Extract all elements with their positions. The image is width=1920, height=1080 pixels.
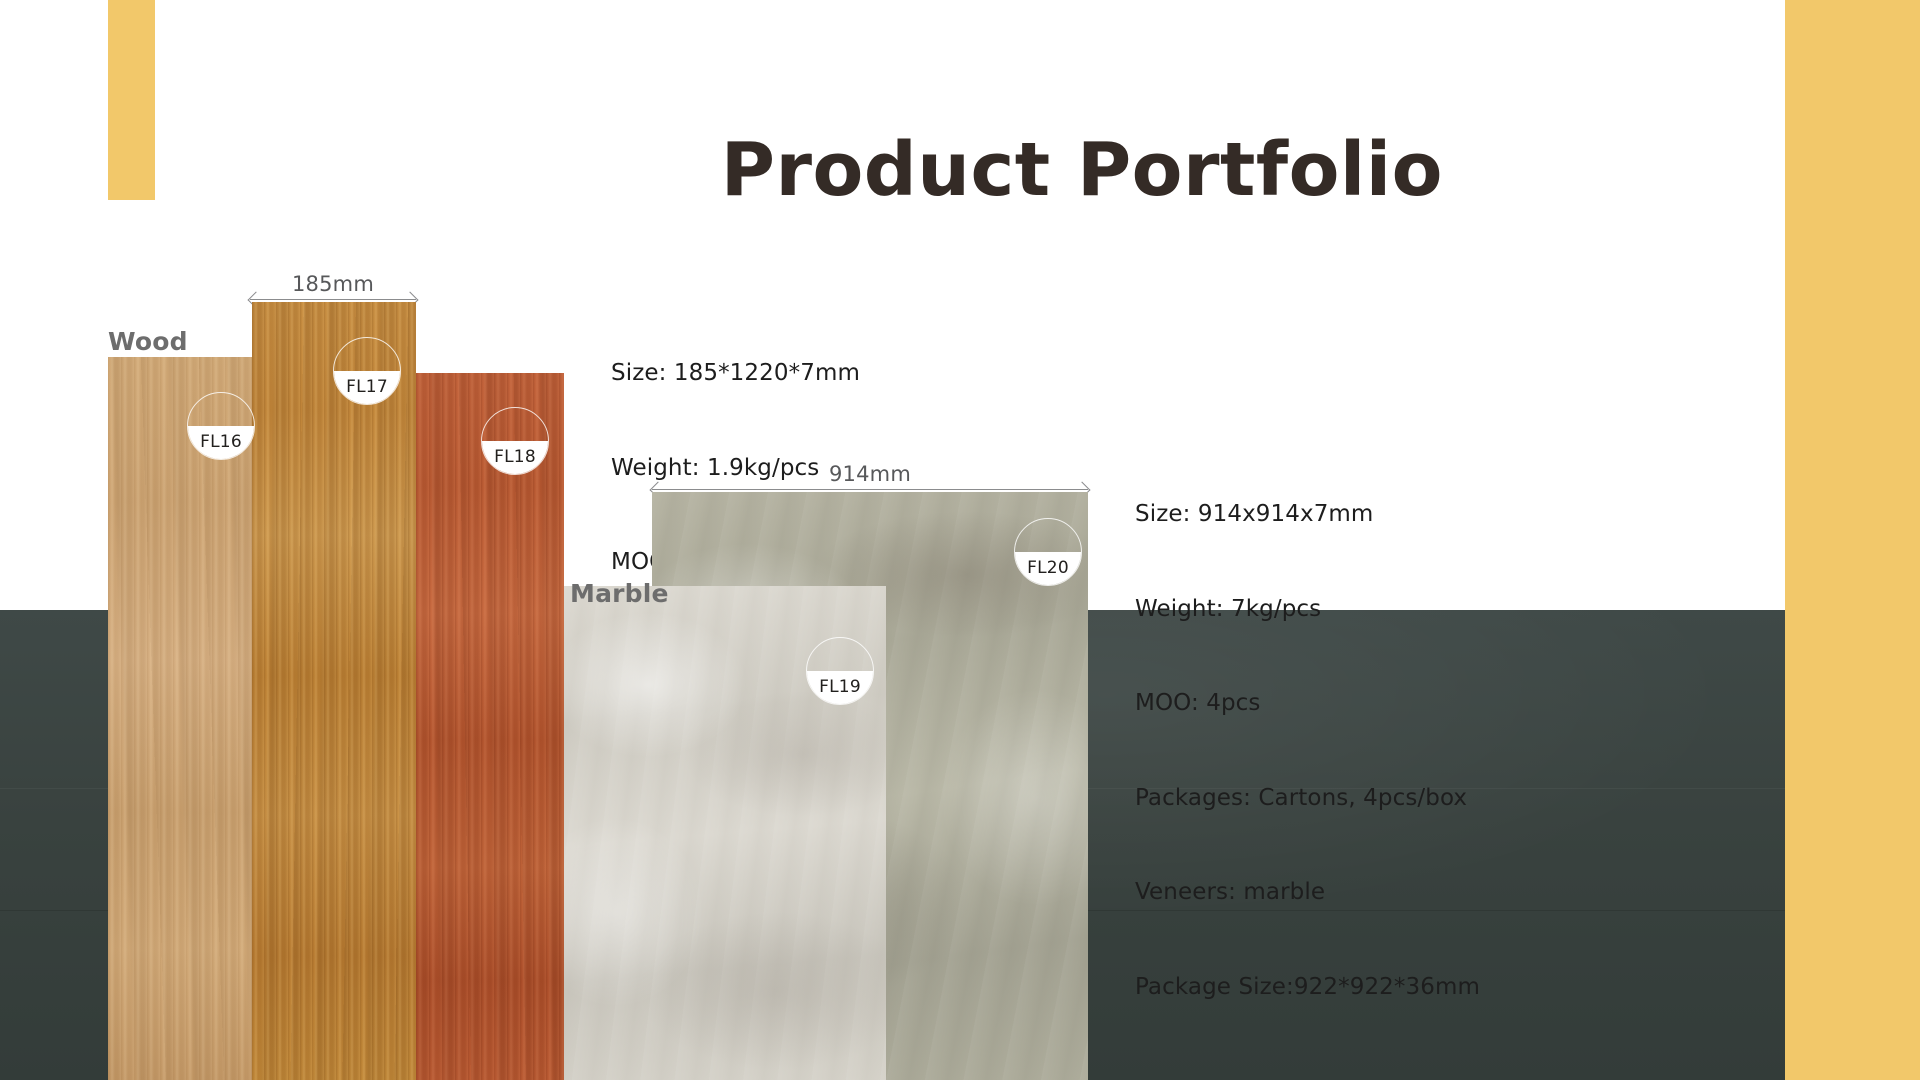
spec-package-size: Package Size:922*922*36mm [1135,972,1480,1004]
spec-veneer: Veneers: marble [1135,877,1480,909]
category-label-wood: Wood [108,327,188,356]
spec-weight: Weight: 7kg/pcs [1135,594,1480,626]
page-title: Product Portfolio [600,133,1443,207]
dimension-label-914mm: 914mm [652,462,1088,486]
product-badge-fl18[interactable]: FL18 [481,407,549,475]
product-badge-fl19[interactable]: FL19 [806,637,874,705]
spec-packages: Packages: Cartons, 4pcs/box [1135,783,1480,815]
product-badge-label: FL20 [1014,552,1082,586]
dimension-line [250,299,416,300]
product-plank-fl18[interactable] [416,373,564,1080]
spec-block-marble: Size: 914x914x7mm Weight: 7kg/pcs MOO: 4… [1135,436,1480,1066]
dimension-line [652,489,1088,490]
dimension-label-185mm: 185mm [250,272,416,296]
slide-canvas: Product Portfolio Wood 185mm FL16 FL17 F… [0,0,1920,1080]
product-plank-fl17[interactable] [252,302,416,1080]
product-badge-label: FL19 [806,671,874,705]
product-badge-fl17[interactable]: FL17 [333,337,401,405]
accent-bar-right-edge [1785,0,1920,1080]
product-badge-fl16[interactable]: FL16 [187,392,255,460]
product-plank-fl16[interactable] [108,357,254,1080]
category-label-marble: Marble [570,579,669,608]
product-badge-label: FL18 [481,441,549,475]
spec-moq: MOO: 4pcs [1135,688,1480,720]
spec-size: Size: 914x914x7mm [1135,499,1480,531]
spec-size: Size: 185*1220*7mm [611,358,978,390]
product-badge-label: FL17 [333,371,401,405]
product-badge-label: FL16 [187,426,255,460]
product-badge-fl20[interactable]: FL20 [1014,518,1082,586]
accent-bar-top-left [108,0,155,200]
